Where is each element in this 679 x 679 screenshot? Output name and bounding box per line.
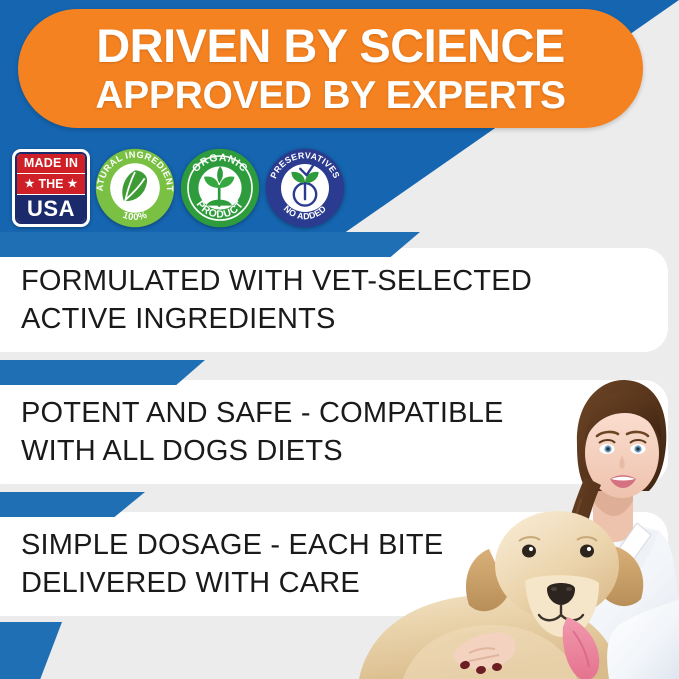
usa-badge-line-2: ★ THE ★	[17, 174, 85, 195]
trust-badges-row: MADE IN ★ THE ★ USA	[12, 148, 345, 228]
feature-2-line-2: WITH ALL DOGS DIETS	[21, 432, 528, 470]
natural-ingredients-badge: NATURAL INGREDIENTS 100%	[95, 148, 175, 228]
woman-hand	[454, 633, 516, 669]
feature-card-formulated: FORMULATED WITH VET-SELECTED ACTIVE INGR…	[0, 248, 668, 352]
accent-bar-2	[0, 360, 205, 385]
feature-2-line-1: POTENT AND SAFE - COMPATIBLE	[21, 394, 528, 432]
star-icon-right: ★	[68, 179, 78, 190]
feature-card-potent-safe: POTENT AND SAFE - COMPATIBLE WITH ALL DO…	[0, 380, 668, 484]
organic-product-seal-graphic: ORGANIC PRODUCT	[180, 148, 260, 228]
dog-tongue	[563, 617, 600, 679]
feature-3-line-1: SIMPLE DOSAGE - EACH BITE	[21, 526, 528, 564]
nail-polish	[492, 662, 503, 671]
no-added-preservatives-seal-graphic: PRESERVATIVES NO ADDED	[265, 148, 345, 228]
nail-polish	[475, 665, 486, 675]
feature-1-line-2: ACTIVE INGREDIENTS	[21, 300, 528, 338]
natural-ingredients-seal-graphic: NATURAL INGREDIENTS 100%	[95, 148, 175, 228]
made-in-usa-badge: MADE IN ★ THE ★ USA	[12, 149, 90, 227]
headline-line-1: DRIVEN BY SCIENCE	[96, 22, 565, 69]
accent-bar-1	[0, 232, 420, 257]
headline-banner: DRIVEN BY SCIENCE APPROVED BY EXPERTS	[18, 9, 643, 128]
feature-1-line-1: FORMULATED WITH VET-SELECTED	[21, 262, 528, 300]
usa-badge-line-2-text: THE	[39, 174, 64, 194]
nail-polish	[459, 660, 471, 671]
feature-3-line-2: DELIVERED WITH CARE	[21, 564, 528, 602]
star-icon-left: ★	[25, 179, 35, 190]
no-added-preservatives-badge: PRESERVATIVES NO ADDED	[265, 148, 345, 228]
feature-card-simple-dosage: SIMPLE DOSAGE - EACH BITE DELIVERED WITH…	[0, 512, 668, 616]
accent-bar-4	[0, 622, 62, 679]
organic-product-badge: ORGANIC PRODUCT	[180, 148, 260, 228]
usa-badge-line-3: USA	[17, 195, 85, 222]
usa-badge-line-1: MADE IN	[17, 154, 85, 174]
product-feature-poster: DRIVEN BY SCIENCE APPROVED BY EXPERTS MA…	[0, 0, 679, 679]
headline-line-2: APPROVED BY EXPERTS	[95, 76, 565, 115]
